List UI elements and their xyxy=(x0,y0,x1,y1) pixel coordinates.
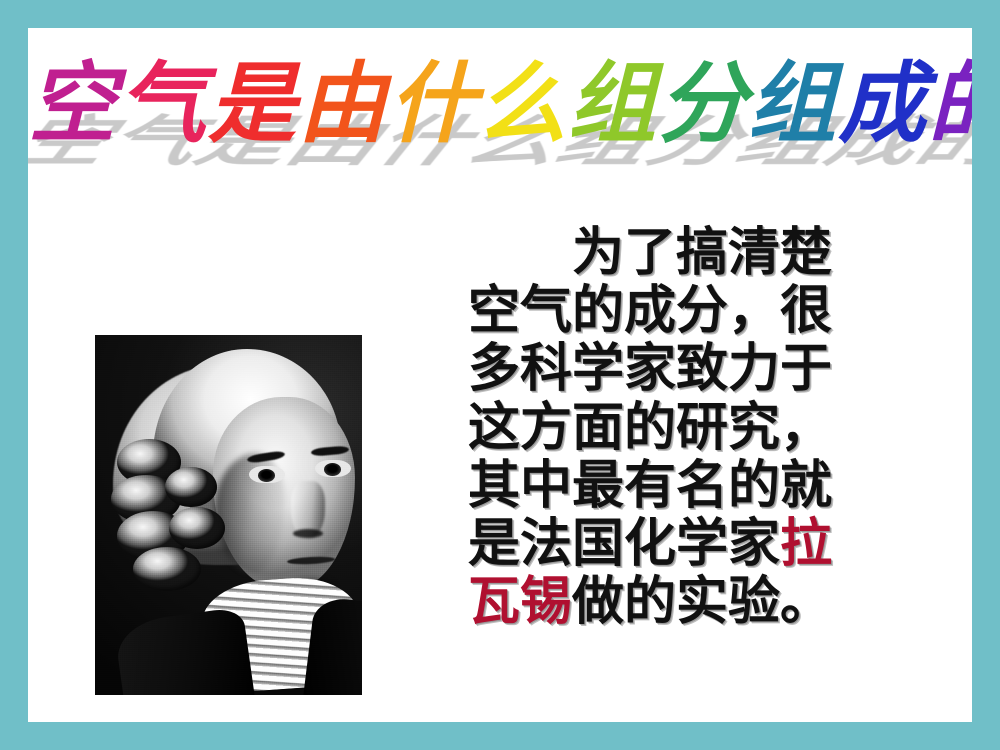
title-char-4: 什 xyxy=(388,48,478,161)
body-text-segment: 多科学家致力于 xyxy=(468,338,832,399)
wig-curl-shape xyxy=(133,547,201,591)
body-highlight-text: 瓦锡 xyxy=(468,571,572,632)
wig-curl-shape xyxy=(169,507,225,549)
body-text-segment: 其中最有名的就 xyxy=(468,455,832,516)
lavoisier-portrait-image xyxy=(95,335,362,695)
title-char-5: 么 xyxy=(478,48,568,161)
body-paragraph: 为了搞清楚空气的成分，很多科学家致力于这方面的研究，其中最有名的就是法国化学家拉… xyxy=(468,224,938,632)
title-char-3: 由 xyxy=(298,48,388,161)
title-char-10: 的 xyxy=(928,48,972,161)
title-char-2: 是 xyxy=(208,48,298,161)
slide-title: 空气是由什么组分组成的? 空气是由什么组分组成的? xyxy=(28,48,972,188)
body-text-segment: 做的实验。 xyxy=(572,571,832,632)
body-text-segment: 空气的成分，很 xyxy=(468,280,832,341)
body-line-2: 多科学家致力于 xyxy=(468,340,938,398)
title-char-1: 气 xyxy=(118,48,208,161)
body-highlight-text: 拉 xyxy=(780,513,832,574)
body-text-segment: 这方面的研究， xyxy=(468,397,832,458)
title-char-6: 组 xyxy=(568,48,658,161)
body-text-segment: 是法国化学家 xyxy=(468,513,780,574)
body-line-4: 其中最有名的就 xyxy=(468,457,938,515)
title-char-0: 空 xyxy=(28,48,118,161)
wig-curl-shape xyxy=(165,467,217,507)
eye-shape xyxy=(324,463,341,476)
body-line-3: 这方面的研究， xyxy=(468,399,938,457)
nostril-shape xyxy=(293,529,323,538)
title-colored-layer: 空气是由什么组分组成的? xyxy=(28,48,972,161)
title-char-9: 成 xyxy=(838,48,928,161)
slide-frame: 空气是由什么组分组成的? 空气是由什么组分组成的? xyxy=(0,0,1000,750)
body-line-1: 空气的成分，很 xyxy=(468,282,938,340)
title-char-8: 组 xyxy=(748,48,838,161)
eye-shape xyxy=(258,469,275,482)
body-line-5: 是法国化学家拉 xyxy=(468,515,938,573)
slide-canvas: 空气是由什么组分组成的? 空气是由什么组分组成的? xyxy=(28,28,972,722)
body-text-segment: 为了搞清楚 xyxy=(572,222,832,283)
title-char-7: 分 xyxy=(658,48,748,161)
body-line-6: 瓦锡做的实验。 xyxy=(468,573,938,631)
body-line-0: 为了搞清楚 xyxy=(468,224,938,282)
